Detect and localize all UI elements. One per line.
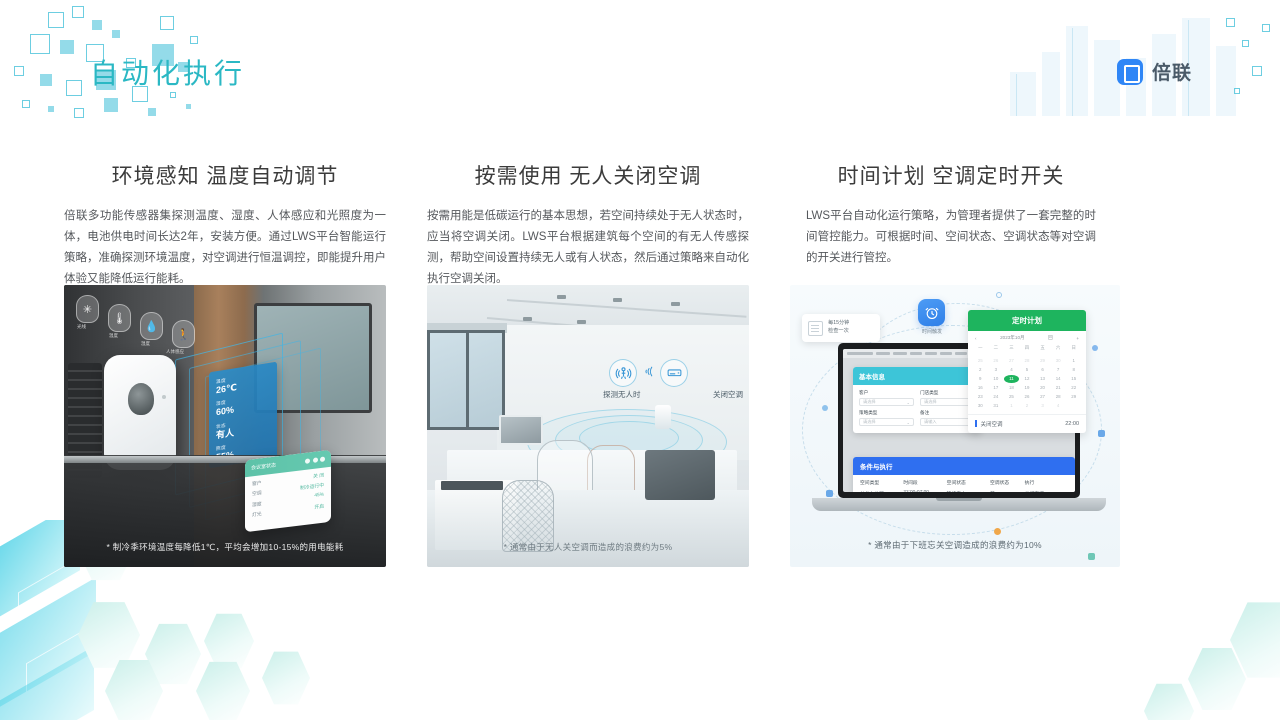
table-header-cell: 时间段	[903, 479, 946, 486]
panel2-track-light	[577, 320, 586, 324]
panel3-decor-dot	[822, 405, 828, 411]
panel3-decor-dot	[826, 490, 833, 497]
calendar-event-row[interactable]: 关闭空调 22:00	[968, 414, 1086, 433]
checklist-search-icon	[808, 321, 823, 336]
field-input[interactable]: 请选择⌄	[859, 398, 914, 406]
brand-logo: 倍联	[1117, 58, 1192, 85]
light-sensor-icon: ✳	[76, 295, 99, 323]
chevron-down-icon: ⌄	[906, 420, 910, 425]
calendar-day[interactable]: 5	[1020, 366, 1035, 374]
column-3-body: LWS平台自动化运行策略，为管理者提供了一套完整的时间管控能力。可根据时间、空间…	[790, 206, 1112, 269]
calendar-weekday: 日	[1066, 344, 1081, 352]
column-2-title: 按需使用 无人关闭空调	[427, 160, 749, 190]
calendar-day[interactable]: 9	[973, 375, 988, 383]
calendar-day[interactable]: 6	[1035, 366, 1050, 374]
column-1-title: 环境感知 温度自动调节	[64, 160, 386, 190]
panel3-caption: * 通常由于下班忘关空调造成的浪费约为10%	[790, 539, 1120, 551]
panel1-caption: * 制冷季环境温度每降低1℃，平均会增加10-15%的用电能耗	[64, 541, 386, 553]
interval-line-2: 检查一次	[828, 328, 849, 334]
calendar-weekday-row: 一二三四五六日	[968, 343, 1086, 356]
panel2-track-light	[613, 298, 622, 302]
column-2-body: 按需用能是低碳运行的基本思想，若空间持续处于无人状态时，应当将空调关闭。LWS平…	[427, 206, 749, 290]
calendar-day[interactable]: 19	[1020, 384, 1035, 392]
calendar-day[interactable]: 4	[1051, 402, 1066, 410]
column-3-title: 时间计划 空调定时开关	[790, 160, 1112, 190]
form-field-strategy-type[interactable]: 策略类型 请选择⌄	[859, 410, 914, 426]
interval-line-1: 每15分钟	[828, 320, 849, 326]
calendar-day[interactable]: 2	[1020, 402, 1035, 410]
calendar-weekday: 六	[1051, 344, 1066, 352]
calendar-day[interactable]: 25	[973, 357, 988, 365]
humidity-sensor-label: 湿度	[141, 341, 150, 347]
calendar-day[interactable]: 29	[1035, 357, 1050, 365]
calendar-day[interactable]: 1	[1004, 402, 1019, 410]
signal-wave-icon	[642, 359, 655, 381]
calendar-day[interactable]: 24	[989, 393, 1004, 401]
calendar-prev-button[interactable]: ‹	[975, 336, 977, 341]
calendar-day[interactable]: 23	[973, 393, 988, 401]
status-value: 开启	[314, 503, 324, 511]
calendar-day[interactable]: 25	[1004, 393, 1019, 401]
calendar-nav: ‹ 2023年10月 回 +	[968, 331, 1086, 343]
calendar-day[interactable]: 17	[989, 384, 1004, 392]
table-cell: 开	[990, 490, 1025, 492]
table-cell: 持续无人	[947, 490, 990, 492]
panel1-room-status-card: 会议室状态 窗户关 闭 空调制冷运行中 湿度45% 灯光开启	[245, 450, 331, 533]
panel3-decor-dot	[994, 528, 1001, 535]
calendar-day[interactable]: 3	[989, 366, 1004, 374]
calendar-day[interactable]: 10	[989, 375, 1004, 383]
panel3-decor-dot	[1088, 553, 1095, 560]
status-key: 湿度	[252, 500, 262, 508]
calendar-title: 定时计划	[968, 310, 1086, 331]
table-cell: 关闭空调	[1025, 490, 1068, 492]
status-key: 空调	[252, 489, 262, 497]
calendar-day[interactable]: 1	[1066, 357, 1081, 365]
decor-bottom-right-hexagons	[1030, 550, 1280, 720]
calendar-day[interactable]: 8	[1066, 366, 1081, 374]
panel1-sensor-device	[104, 355, 176, 470]
status-key: 窗户	[252, 479, 262, 487]
form-field-customer[interactable]: 客户 请选择⌄	[859, 390, 914, 406]
temperature-sensor-label: 温度	[109, 333, 118, 339]
field-label: 策略类型	[859, 410, 914, 416]
calendar-day[interactable]: 30	[973, 402, 988, 410]
light-sensor-label: 光线	[77, 324, 86, 330]
calendar-weekday: 三	[1004, 344, 1019, 352]
panel3-conditions-table: 条件与执行 空间类型 时间段 空间状态 空调状态 执行 公共办公区 22:00-…	[853, 457, 1075, 492]
panel1-sensor-lens	[128, 383, 154, 415]
person-detect-icon	[609, 359, 637, 387]
calendar-day[interactable]: 12	[1020, 375, 1035, 383]
table-header-cell: 空调状态	[990, 479, 1025, 486]
field-label: 客户	[859, 390, 914, 396]
calendar-day[interactable]: 27	[1035, 393, 1050, 401]
calendar-add-button[interactable]: +	[1076, 336, 1079, 341]
column-1-body: 倍联多功能传感器集探测温度、湿度、人体感应和光照度为一体，电池供电时间长达2年，…	[64, 206, 386, 290]
image-panel-office: 探测无人时 关闭空调 * 通常由于无人关空调而造成的浪费约为5%	[427, 285, 749, 567]
temperature-sensor-icon: 🌡	[108, 304, 131, 332]
panel3-schedule-calendar: 定时计划 ‹ 2023年10月 回 + 一二三四五六日 252627282930…	[968, 310, 1086, 433]
panel2-cabinet-top	[441, 481, 503, 490]
calendar-day[interactable]: 16	[973, 384, 988, 392]
image-panel-sensor: ✳ 光线 🌡 温度 💧 湿度 🚶 人体感应 温度26℃ 湿度60% 状态有人 照…	[64, 285, 386, 567]
calendar-day[interactable]: 18	[1004, 384, 1019, 392]
calendar-day[interactable]: 27	[1004, 357, 1019, 365]
table-title: 条件与执行	[853, 457, 1075, 475]
calendar-weekday: 一	[973, 344, 988, 352]
calendar-day[interactable]: 2	[973, 366, 988, 374]
status-value: 45%	[314, 492, 324, 500]
panel2-track-light	[523, 317, 532, 321]
field-input[interactable]: 请选择⌄	[920, 398, 975, 406]
field-input[interactable]: 请输入	[920, 418, 975, 426]
air-conditioner-icon	[660, 359, 688, 387]
calendar-day-grid[interactable]: 2526272829301234567891011121314151617181…	[968, 356, 1086, 414]
calendar-event-time: 22:00	[1065, 421, 1079, 427]
panel1-readout-card: 温度26℃ 湿度60% 状态有人 照度55%	[209, 362, 277, 469]
status-key: 灯光	[252, 510, 262, 518]
chevron-down-icon: ⌄	[906, 400, 910, 405]
window-dots-icon	[305, 456, 325, 463]
panel2-sensor-device	[655, 405, 671, 429]
calendar-month-label: 2023年10月	[1000, 335, 1025, 341]
panel3-clock-label: 时间触发	[912, 328, 952, 335]
panel3-laptop-base	[812, 498, 1106, 511]
panel1-counter-edge	[64, 456, 386, 463]
form-title: 基本信息	[853, 367, 981, 385]
panel2-track-light	[557, 295, 566, 299]
page-header: 自动化执行 倍联	[0, 0, 1280, 130]
table-header-cell: 空间状态	[947, 479, 990, 486]
table-header-cell: 执行	[1025, 479, 1068, 486]
table-header-row: 空间类型 时间段 空间状态 空调状态 执行	[853, 475, 1075, 486]
panel2-window	[427, 330, 505, 430]
panel3-interval-chip: 每15分钟 检查一次	[802, 314, 880, 342]
status-value: 关 闭	[313, 471, 324, 479]
column-2: 按需使用 无人关闭空调 按需用能是低碳运行的基本思想，若空间持续处于无人状态时，…	[427, 160, 749, 290]
calendar-day[interactable]: 31	[989, 402, 1004, 410]
calendar-today-button[interactable]: 回	[1048, 335, 1053, 341]
panel3-basic-info-form: 基本信息 客户 请选择⌄ 门店类型 请选择⌄ 策略类型 请选择⌄	[853, 367, 981, 433]
calendar-event-label: 关闭空调	[981, 422, 1003, 428]
calendar-day[interactable]: 26	[989, 357, 1004, 365]
field-label: 备注	[920, 410, 975, 416]
humidity-sensor-icon: 💧	[140, 312, 163, 340]
calendar-day[interactable]: 11	[1004, 375, 1019, 383]
calendar-day[interactable]: 4	[1004, 366, 1019, 374]
calendar-day[interactable]: 28	[1020, 357, 1035, 365]
calendar-day[interactable]: 3	[1035, 402, 1050, 410]
calendar-day[interactable]: 22	[1066, 384, 1081, 392]
panel1-sensor-led	[162, 395, 166, 399]
calendar-day[interactable]: 26	[1020, 393, 1035, 401]
image-panel-schedule: 每15分钟 检查一次 时间触发 基本信息 客户 请选择⌄	[790, 285, 1120, 567]
calendar-day[interactable]: 20	[1035, 384, 1050, 392]
column-1: 环境感知 温度自动调节 倍联多功能传感器集探测温度、湿度、人体感应和光照度为一体…	[64, 160, 386, 290]
panel3-decor-dot	[1098, 430, 1105, 437]
calendar-day[interactable]: 30	[1051, 357, 1066, 365]
calendar-day[interactable]: 13	[1035, 375, 1050, 383]
calendar-day[interactable]: 29	[1066, 393, 1081, 401]
panel2-monitor-right	[645, 450, 715, 500]
calendar-weekday: 四	[1020, 344, 1035, 352]
alarm-clock-icon	[918, 299, 945, 326]
panel2-caption: * 通常由于无人关空调而造成的浪费约为5%	[427, 541, 749, 553]
table-cell: 公共办公区	[860, 490, 903, 492]
column-3: 时间计划 空调定时开关 LWS平台自动化运行策略，为管理者提供了一套完整的时间管…	[790, 160, 1112, 269]
room-status-title: 会议室状态	[251, 461, 276, 471]
square-logo-icon	[1117, 59, 1143, 85]
calendar-day[interactable]: 28	[1051, 393, 1066, 401]
form-field-remark[interactable]: 备注 请输入	[920, 410, 975, 426]
panel3-decor-dot	[1092, 345, 1098, 351]
panel2-icon-labels: 探测无人时 关闭空调	[603, 389, 743, 400]
table-header-cell: 空间类型	[860, 479, 903, 486]
panel2-detect-label: 探测无人时	[603, 389, 641, 400]
field-input[interactable]: 请选择⌄	[859, 418, 914, 426]
page-title: 自动化执行	[90, 52, 245, 92]
calendar-day[interactable]: 21	[1051, 384, 1066, 392]
table-row: 公共办公区 22:00-07:00 持续无人 开 关闭空调	[853, 486, 1075, 492]
calendar-day[interactable]: 7	[1051, 366, 1066, 374]
calendar-day[interactable]: 14	[1051, 375, 1066, 383]
calendar-weekday: 五	[1035, 344, 1050, 352]
table-cell: 22:00-07:00	[903, 490, 946, 492]
panel2-track-light	[671, 302, 680, 306]
panel2-action-label: 关闭空调	[713, 389, 743, 400]
panel2-monitor-left	[499, 415, 543, 445]
form-field-store-type[interactable]: 门店类型 请选择⌄	[920, 390, 975, 406]
brand-name: 倍联	[1152, 58, 1192, 85]
panel3-decor-dot	[996, 292, 1002, 298]
field-label: 门店类型	[920, 390, 975, 396]
calendar-day[interactable]: 15	[1066, 375, 1081, 383]
calendar-weekday: 二	[989, 344, 1004, 352]
